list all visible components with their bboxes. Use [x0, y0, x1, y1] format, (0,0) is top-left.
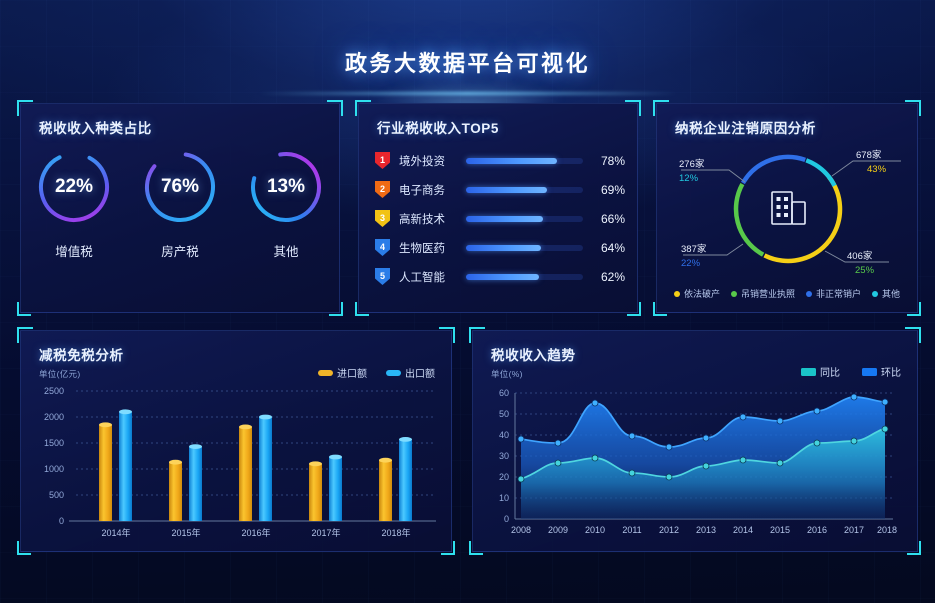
legend-item[interactable]: 其他: [872, 287, 900, 300]
svg-text:2017年: 2017年: [311, 527, 340, 538]
progress-track: [466, 158, 583, 164]
svg-text:2018: 2018: [877, 525, 897, 535]
gauge-label: 增值税: [26, 241, 122, 260]
svg-text:2013: 2013: [696, 525, 716, 535]
gauge-item[interactable]: 13% 其他: [238, 146, 334, 260]
svg-text:20: 20: [499, 472, 509, 482]
donut-label-percent: 22%: [681, 258, 701, 269]
legend-item[interactable]: 非正常销户: [806, 287, 861, 300]
progress-track: [466, 216, 583, 222]
donut-label-percent: 25%: [855, 265, 875, 276]
panel-title-top5: 行业税收收入TOP5: [377, 117, 499, 137]
svg-text:2000: 2000: [44, 412, 64, 422]
percent-value: 64%: [592, 241, 625, 255]
rank-number: 3: [380, 213, 385, 223]
donut-legend: 依法破产 吊销营业执照 非正常销户 其他: [657, 287, 917, 300]
rank-number: 5: [380, 271, 385, 281]
svg-text:30: 30: [499, 451, 509, 461]
percent-value: 78%: [592, 154, 625, 168]
legend-dot-icon: [731, 291, 737, 297]
svg-text:50: 50: [499, 409, 509, 419]
svg-text:1500: 1500: [44, 438, 64, 448]
list-item[interactable]: 2 电子商务 69%: [375, 175, 625, 204]
svg-text:60: 60: [499, 388, 509, 398]
panel-title-tax-share: 税收收入种类占比: [39, 117, 152, 137]
panel-tax-income-share: 税收收入种类占比 22% 增值税: [20, 103, 340, 313]
building-icon: [772, 192, 805, 224]
panel-tax-trend: 税收收入趋势 单位(%) 同比 环比: [472, 330, 918, 552]
donut-label-count: 387家: [681, 243, 707, 255]
svg-text:0: 0: [59, 516, 64, 526]
legend-label: 非正常销户: [816, 287, 861, 300]
rank-badge-icon: 3: [375, 210, 390, 227]
legend-label: 吊销营业执照: [741, 287, 795, 300]
bar-chart-svg: 2500 2000 1500 1000 500 0: [21, 331, 453, 553]
panel-cancel-reason: 纳税企业注销原因分析: [656, 103, 918, 313]
gauge-value: 76%: [139, 146, 221, 228]
list-item[interactable]: 4 生物医药 64%: [375, 233, 625, 262]
legend-dot-icon: [674, 291, 680, 297]
legend-label: 依法破产: [684, 287, 720, 300]
progress-fill: [466, 216, 543, 222]
donut-label-count: 678家: [856, 149, 882, 161]
rank-number: 4: [380, 242, 385, 252]
area-chart-svg: 60 50 40 30 20 10 0: [473, 331, 919, 553]
legend-item[interactable]: 依法破产: [674, 287, 720, 300]
page-title: 政务大数据平台可视化: [0, 46, 935, 78]
list-item[interactable]: 5 人工智能 62%: [375, 262, 625, 291]
donut-label-count: 276家: [679, 158, 705, 170]
progress-fill: [466, 187, 547, 193]
rank-badge-icon: 1: [375, 152, 390, 169]
donut-chart: 678家 43% 276家 12% 387家 22% 406家 25%: [657, 134, 917, 284]
gauge-item[interactable]: 22% 增值税: [26, 146, 122, 260]
legend-label: 其他: [882, 287, 900, 300]
svg-text:2011: 2011: [622, 525, 641, 535]
progress-track: [466, 245, 583, 251]
svg-text:2014: 2014: [733, 525, 753, 535]
rank-badge-icon: 5: [375, 268, 390, 285]
rank-number: 1: [380, 155, 385, 165]
donut-label-count: 406家: [847, 250, 873, 262]
gauge-ring-0: 22%: [33, 146, 115, 228]
percent-value: 66%: [592, 212, 625, 226]
gauge-item[interactable]: 76% 房产税: [132, 146, 228, 260]
industry-name: 人工智能: [399, 269, 457, 285]
gauge-ring-1: 76%: [139, 146, 221, 228]
gauge-value: 13%: [245, 146, 327, 228]
industry-name: 高新技术: [399, 211, 457, 227]
gauge-label: 其他: [238, 241, 334, 260]
svg-text:2017: 2017: [844, 525, 864, 535]
panel-tax-reduction: 减税免税分析 单位(亿元) 进口额 出口额: [20, 330, 452, 552]
gauge-group: 22% 增值税 76% 房产税: [21, 146, 339, 260]
top5-list: 1 境外投资 78% 2 电子商务 69% 3 高新技术: [375, 146, 625, 291]
svg-text:2015年: 2015年: [171, 527, 200, 538]
gauge-ring-2: 13%: [245, 146, 327, 228]
header-underline-glow: [258, 92, 678, 95]
gauge-value: 22%: [33, 146, 115, 228]
svg-text:2012: 2012: [659, 525, 679, 535]
svg-text:2009: 2009: [548, 525, 568, 535]
svg-text:2014年: 2014年: [101, 527, 130, 538]
panel-industry-top5: 行业税收收入TOP5 1 境外投资 78% 2 电子商务 69% 3: [358, 103, 638, 313]
list-item[interactable]: 1 境外投资 78%: [375, 146, 625, 175]
progress-track: [466, 187, 583, 193]
progress-fill: [466, 245, 541, 251]
donut-label-percent: 12%: [679, 173, 699, 184]
rank-number: 2: [380, 184, 385, 194]
legend-dot-icon: [806, 291, 812, 297]
svg-text:2015: 2015: [770, 525, 790, 535]
svg-text:500: 500: [49, 490, 64, 500]
industry-name: 境外投资: [399, 153, 457, 169]
rank-badge-icon: 2: [375, 181, 390, 198]
svg-text:2016: 2016: [807, 525, 827, 535]
gauge-label: 房产税: [132, 241, 228, 260]
donut-label-percent: 43%: [867, 164, 887, 175]
svg-text:10: 10: [499, 493, 509, 503]
legend-dot-icon: [872, 291, 878, 297]
svg-text:2018年: 2018年: [381, 527, 410, 538]
svg-text:2016年: 2016年: [241, 527, 270, 538]
industry-name: 电子商务: [399, 182, 457, 198]
dashboard-header: 政务大数据平台可视化: [0, 0, 935, 98]
svg-text:1000: 1000: [44, 464, 64, 474]
percent-value: 69%: [592, 183, 625, 197]
svg-text:40: 40: [499, 430, 509, 440]
svg-text:0: 0: [504, 514, 509, 524]
rank-badge-icon: 4: [375, 239, 390, 256]
list-item[interactable]: 3 高新技术 66%: [375, 204, 625, 233]
progress-fill: [466, 158, 557, 164]
progress-fill: [466, 274, 539, 280]
svg-text:2008: 2008: [511, 525, 531, 535]
progress-track: [466, 274, 583, 280]
legend-item[interactable]: 吊销营业执照: [731, 287, 795, 300]
svg-text:2010: 2010: [585, 525, 605, 535]
industry-name: 生物医药: [399, 240, 457, 256]
percent-value: 62%: [592, 270, 625, 284]
svg-text:2500: 2500: [44, 386, 64, 396]
